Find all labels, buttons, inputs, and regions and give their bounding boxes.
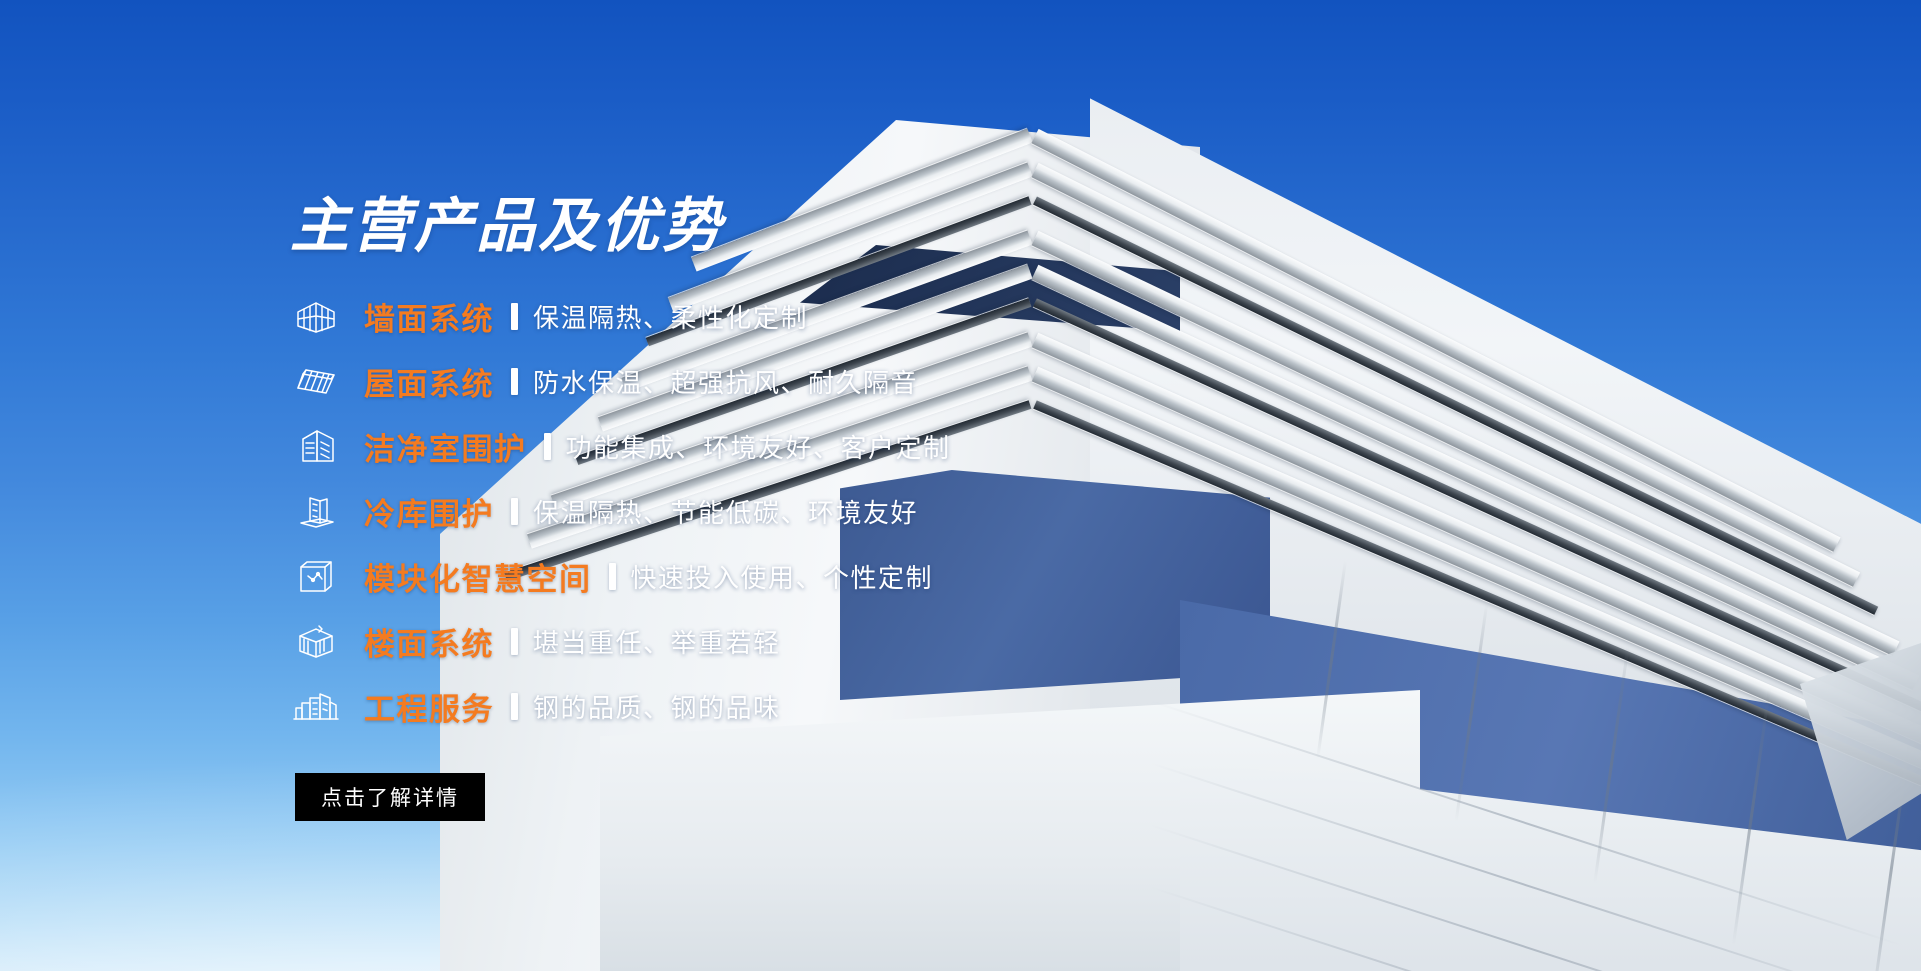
banner-content: 主营产品及优势 墙面系统保温隔热、柔性化定制 屋面系统防水保温、超强抗风、耐久隔… <box>290 196 1290 821</box>
engineering-service-icon <box>290 685 342 729</box>
hero-banner: 主营产品及优势 墙面系统保温隔热、柔性化定制 屋面系统防水保温、超强抗风、耐久隔… <box>0 0 1921 971</box>
product-row-1[interactable]: 墙面系统保温隔热、柔性化定制 <box>290 284 1290 349</box>
product-description: 防水保温、超强抗风、耐久隔音 <box>533 363 918 400</box>
facade-mullion-0 <box>1316 561 1347 759</box>
product-row-3[interactable]: 洁净室围护功能集成、环境友好、客户定制 <box>290 414 1290 479</box>
title-desc-divider <box>511 498 518 525</box>
product-row-6[interactable]: 楼面系统堪当重任、举重若轻 <box>290 609 1290 674</box>
facade-mullion-3 <box>1732 687 1771 945</box>
product-title: 工程服务 <box>364 684 494 729</box>
learn-more-button[interactable]: 点击了解详情 <box>295 773 485 821</box>
title-desc-divider <box>511 628 518 655</box>
product-description: 保温隔热、节能低碳、环境友好 <box>533 493 918 530</box>
cold-storage-icon <box>290 490 342 534</box>
title-desc-divider <box>609 563 616 590</box>
product-title: 洁净室围护 <box>364 424 527 469</box>
facade-seam-2 <box>1150 824 1902 971</box>
title-desc-divider <box>544 433 551 460</box>
product-title: 模块化智慧空间 <box>364 554 592 599</box>
facade-mullion-1 <box>1455 603 1489 821</box>
product-row-2[interactable]: 屋面系统防水保温、超强抗风、耐久隔音 <box>290 349 1290 414</box>
roof-panel-icon <box>290 360 342 404</box>
product-title: 墙面系统 <box>364 294 494 339</box>
product-description: 堪当重任、举重若轻 <box>533 623 781 660</box>
product-row-4[interactable]: 冷库围护保温隔热、节能低碳、环境友好 <box>290 479 1290 544</box>
page-title: 主营产品及优势 <box>290 196 1290 256</box>
product-description: 保温隔热、柔性化定制 <box>533 298 808 335</box>
product-list: 墙面系统保温隔热、柔性化定制 屋面系统防水保温、超强抗风、耐久隔音 洁净室围护功… <box>290 284 1290 739</box>
product-title: 冷库围护 <box>364 489 494 534</box>
product-description: 功能集成、环境友好、客户定制 <box>566 428 951 465</box>
product-title: 楼面系统 <box>364 619 494 664</box>
cleanroom-icon <box>290 425 342 469</box>
facade-seam-3 <box>1150 886 1902 971</box>
product-row-7[interactable]: 工程服务钢的品质、钢的品味 <box>290 674 1290 739</box>
product-description: 钢的品质、钢的品味 <box>533 688 781 725</box>
title-desc-divider <box>511 303 518 330</box>
modular-space-icon <box>290 555 342 599</box>
title-desc-divider <box>511 368 518 395</box>
product-title: 屋面系统 <box>364 359 494 404</box>
product-row-5[interactable]: 模块化智慧空间快速投入使用、个性定制 <box>290 544 1290 609</box>
title-desc-divider <box>511 693 518 720</box>
floor-deck-icon <box>290 620 342 664</box>
wall-panel-icon <box>290 295 342 339</box>
product-description: 快速投入使用、个性定制 <box>631 558 934 595</box>
